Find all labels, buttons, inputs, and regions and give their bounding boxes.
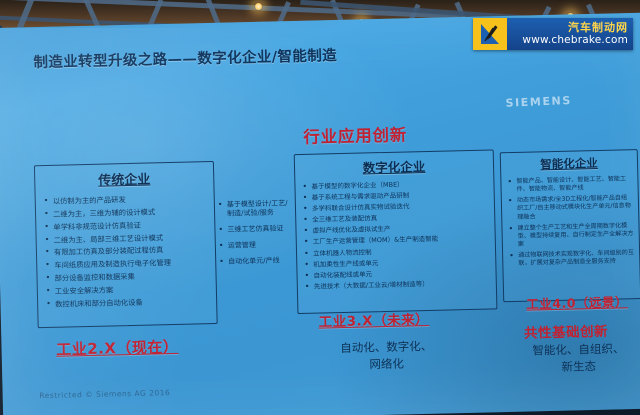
watermark-url: www.chebrake.com	[522, 34, 628, 46]
list-item: 动态市场需求/全3D工程化/智能产品自组织工厂/自主移动式模块化生产单元/信息物…	[508, 194, 634, 221]
list-item: 单学科非规范设计仿真验证	[44, 219, 208, 233]
slide-title: 制造业转型升级之路——数字化企业/智能制造	[33, 41, 463, 72]
list-item: 自动化单元/产线	[219, 257, 291, 268]
watermark-site-name: 汽车制动网	[568, 22, 628, 34]
tagline-digital: 自动化、数字化、 网络化	[311, 337, 462, 374]
slide-footer-note: Restricted © Siemens AG 2016	[39, 388, 170, 400]
list-item: 三维工艺仿真验证	[218, 224, 290, 235]
tagline-smart: 智能化、自组织、 新生态	[513, 340, 640, 376]
list-item: 数控机床和部分自动化设备	[46, 296, 210, 310]
list-item: 车间纸质应用及制造执行电子化管理	[45, 257, 209, 271]
list-item: 先进技术（大数据/工业云/增材制造等）	[305, 278, 490, 291]
heading-common-innovation: 共性基础创新	[524, 320, 608, 342]
column-traditional-enterprise: 传统企业 以仿制为主的产品研发二维为主，三维为辅的设计模式单学科非规范设计仿真验…	[34, 161, 218, 328]
list-item: 智能产品、智能设计、智能工艺、智能工件、智能物流、智能产线	[507, 175, 632, 194]
column-title-traditional: 传统企业	[35, 162, 214, 190]
list-item: 通过物联网技术实现数字化、车间级别的互联，扩展对复杂产品制造全服务支持	[509, 249, 634, 268]
list-item: 以仿制为主的产品研发	[44, 193, 208, 207]
list-item: 运营管理	[219, 240, 291, 251]
list-item: 二维为主，三维为辅的设计模式	[44, 206, 208, 220]
stage-label-industry-40: 工业4.0（远景）	[526, 291, 628, 312]
watermark-logo[interactable]: 汽车制动网 www.chebrake.com	[473, 18, 633, 50]
stage-label-industry-3x: 工业3.X（未来）	[318, 308, 429, 331]
triangle-pen-icon	[473, 18, 507, 50]
list-item: 有限加工仿真及部分装配过程仿真	[45, 245, 209, 259]
bullet-list-digital: 基于模型的数字化企业（MBE）基于系统工程与需求驱动产品研制多学科联合设计仿真实…	[302, 179, 490, 292]
list-item: 工业安全解决方案	[46, 283, 210, 297]
bullet-list-bridge: 基于模型设计/工艺/制造/试验/服务三维工艺仿真验证运营管理自动化单元/产线	[218, 199, 292, 267]
list-item: 二维为主、局部三维工艺设计模式	[45, 232, 209, 246]
column-bridge-capabilities: 基于模型设计/工艺/制造/试验/服务三维工艺仿真验证运营管理自动化单元/产线	[218, 199, 292, 274]
column-smart-enterprise: 智能化企业 智能产品、智能设计、智能工艺、智能工件、智能物流、智能产线动态市场需…	[500, 149, 640, 302]
bullet-list-smart: 智能产品、智能设计、智能工艺、智能工件、智能物流、智能产线动态市场需求/全3D工…	[507, 175, 634, 268]
list-item: 建立整个生产工艺和生产全周期数字化模型、模型持续复用、自行制定生产全解决方案	[508, 222, 634, 249]
list-item: 部分设备监控和数据采集	[45, 270, 209, 284]
list-item: 基于模型设计/工艺/制造/试验/服务	[218, 199, 290, 219]
column-title-digital: 数字化企业	[295, 150, 493, 178]
main-heading: 行业应用创新	[303, 121, 407, 147]
watermark-text: 汽车制动网 www.chebrake.com	[507, 18, 633, 50]
siemens-logo: SIEMENS	[505, 94, 572, 110]
slide-content: 制造业转型升级之路——数字化企业/智能制造 SIEMENS 行业应用创新 传统企…	[0, 0, 640, 415]
stage-label-industry-2x: 工业2.X（现在）	[56, 336, 179, 360]
pen-glyph-icon	[480, 23, 500, 45]
bullet-list-traditional: 以仿制为主的产品研发二维为主，三维为辅的设计模式单学科非规范设计仿真验证二维为主…	[44, 193, 211, 309]
column-digital-enterprise: 数字化企业 基于模型的数字化企业（MBE）基于系统工程与需求驱动产品研制多学科联…	[294, 149, 498, 314]
presentation-photo: 制造业转型升级之路——数字化企业/智能制造 SIEMENS 行业应用创新 传统企…	[0, 0, 640, 415]
column-title-smart: 智能化企业	[501, 150, 637, 173]
